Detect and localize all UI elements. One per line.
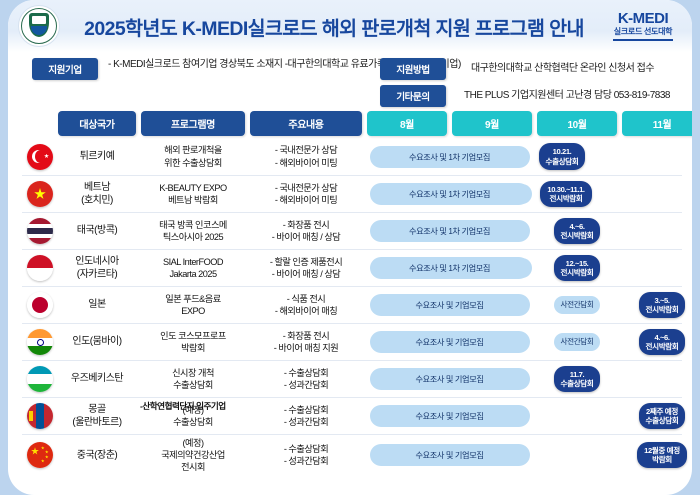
apply-method-label: 지원방법	[380, 58, 446, 80]
inquiry-row: 기타문의 THE PLUS 기업지원센터 고난경 담당 053-819-7838	[380, 85, 661, 107]
country-name: 일본	[58, 296, 136, 313]
month-cell-10: 4.~6. 전시박람회	[537, 218, 617, 244]
month-cell-10: 사전간담회	[537, 333, 617, 350]
program-content: - 식품 전시 - 해외바이어 매칭	[250, 291, 362, 319]
schedule-bar-span: 수요조사 및 기업모집	[367, 405, 532, 427]
month-cell-10: 12.~15. 전시박람회	[537, 255, 617, 281]
schedule-table: 대상국가 프로그램명 주요내용 8월 9월 10월 11월 12월 튀르키예해외…	[8, 111, 692, 475]
flag-cell	[22, 292, 58, 318]
month-cell-10: 사전간담회	[537, 296, 617, 313]
table-row: 일본일본 푸드&음료 EXPO- 식품 전시 - 해외바이어 매칭수요조사 및 …	[22, 286, 682, 323]
turkey-flag	[27, 144, 53, 170]
apply-method-row: 지원방법 대구한의대학교 산학협력단 온라인 신청서 접수	[380, 58, 661, 80]
page-title: 2025학년도 K-MEDI실크로드 해외 판로개척 지원 프로그램 안내	[60, 12, 604, 41]
schedule-badge: 10.30.~11.1. 전시박람회	[540, 181, 591, 207]
program-content: - 수출상담회 - 성과간담회	[250, 441, 362, 469]
flag-cell	[22, 181, 58, 207]
schedule-bar-span: 수요조사 및 1차 기업모집	[367, 257, 532, 279]
table-header-row: 대상국가 프로그램명 주요내용 8월 9월 10월 11월 12월	[22, 111, 682, 136]
table-body: 튀르키예해외 판로개척을 위한 수출상담회- 국내전문가 상담 - 해외바이어 …	[22, 138, 682, 475]
indonesia-flag	[27, 255, 53, 281]
country-name: 몽골 (울란바토르)	[58, 401, 136, 431]
flag-cell	[22, 366, 58, 392]
table-row: 베트남 (호치민)K-BEAUTY EXPO 베트남 박람회- 국내전문가 상담…	[22, 175, 682, 212]
column-header-country: 대상국가	[58, 111, 136, 136]
program-name: 일본 푸드&음료 EXPO	[141, 291, 245, 319]
column-header-month-10: 10월	[537, 111, 617, 136]
inquiry-label: 기타문의	[380, 85, 446, 107]
flag-cell	[22, 329, 58, 355]
table-row: 인도네시아 (자카르타)SIAL InterFOOD Jakarta 2025-…	[22, 249, 682, 286]
program-name: SIAL InterFOOD Jakarta 2025	[141, 254, 245, 282]
brand-line-2: 실크로드 선도대학	[604, 28, 682, 36]
month-cell-10: 10.21. 수출상담회	[537, 143, 617, 169]
table-row: 몽골 (울란바토르)(예정) 수출상담회- 수출상담회 - 성과간담회수요조사 …	[22, 397, 682, 434]
brand-underline	[613, 39, 673, 41]
india-flag	[27, 329, 53, 355]
country-name: 우즈베키스탄	[58, 370, 136, 387]
program-name: 태국 방콕 인코스메 틱스아시아 2025	[141, 217, 245, 245]
column-header-month-9: 9월	[452, 111, 532, 136]
schedule-badge: 4.~6. 전시박람회	[639, 329, 686, 355]
program-content: - 국내전문가 상담 - 해외바이어 미팅	[250, 142, 362, 170]
schedule-badge: 수요조사 및 기업모집	[370, 444, 530, 466]
mongolia-flag	[27, 403, 53, 429]
schedule-badge: 수요조사 및 1차 기업모집	[370, 183, 530, 205]
schedule-badge: 수요조사 및 1차 기업모집	[370, 146, 530, 168]
schedule-badge: 수요조사 및 기업모집	[370, 294, 530, 316]
schedule-badge: 수요조사 및 기업모집	[370, 331, 530, 353]
schedule-bar-span: 수요조사 및 1차 기업모집	[367, 220, 532, 242]
poster-header: 2025학년도 K-MEDI실크로드 해외 판로개척 지원 프로그램 안내 K-…	[8, 0, 692, 52]
month-cell-11: 2째주 예정 수출상담회	[622, 403, 692, 429]
month-cell-11: 3.~5. 전시박람회	[622, 292, 692, 318]
program-content: - 화장품 전시 - 바이어 매칭 / 상담	[250, 217, 362, 245]
vietnam-flag	[27, 181, 53, 207]
program-name: (예정) 국제의약건강산업 전시회	[141, 435, 245, 475]
schedule-badge: 수요조사 및 기업모집	[370, 405, 530, 427]
poster-page: 2025학년도 K-MEDI실크로드 해외 판로개척 지원 프로그램 안내 K-…	[0, 0, 700, 495]
schedule-badge: 수요조사 및 1차 기업모집	[370, 257, 530, 279]
country-name: 태국(방콕)	[58, 222, 136, 239]
info-support: 지원기업 - K-MEDI실크로드 참여기업 경상북도 소재지 -대구한의대학교…	[32, 58, 380, 107]
schedule-bar-span: 수요조사 및 1차 기업모집	[367, 146, 532, 168]
column-header-program: 프로그램명	[141, 111, 245, 136]
row-note: -산학연협력단지 입주기업	[140, 400, 226, 412]
schedule-bar-span: 수요조사 및 기업모집	[367, 444, 532, 466]
country-name: 인도(뭄바이)	[58, 333, 136, 350]
poster-card: 2025학년도 K-MEDI실크로드 해외 판로개척 지원 프로그램 안내 K-…	[8, 0, 692, 495]
program-content: - 화장품 전시 - 바이어 매칭 지원	[250, 328, 362, 356]
brand-line-1: K-MEDI	[604, 11, 682, 27]
schedule-badge: 수요조사 및 1차 기업모집	[370, 220, 530, 242]
flag-cell	[22, 442, 58, 468]
uzbekistan-flag	[27, 366, 53, 392]
table-row: 중국(장춘)(예정) 국제의약건강산업 전시회- 수출상담회 - 성과간담회수요…	[22, 434, 682, 475]
column-header-month-11: 11월	[622, 111, 692, 136]
month-cell-10: 10.30.~11.1. 전시박람회	[537, 181, 617, 207]
program-content: - 수출상담회 - 성과간담회	[250, 365, 362, 393]
month-cell-11: 12월중 예정 박람회	[622, 442, 692, 468]
flag-cell	[22, 144, 58, 170]
column-header-content: 주요내용	[250, 111, 362, 136]
kmedi-brand-logo: K-MEDI 실크로드 선도대학	[604, 11, 686, 40]
university-seal-icon	[18, 5, 60, 47]
column-header-month-8: 8월	[367, 111, 447, 136]
program-name: K-BEAUTY EXPO 베트남 박람회	[141, 180, 245, 208]
schedule-badge: 12.~15. 전시박람회	[554, 255, 601, 281]
table-row: 우즈베키스탄신시장 개척 수출상담회- 수출상담회 - 성과간담회수요조사 및 …	[22, 360, 682, 397]
program-content: - 수출상담회 - 성과간담회	[250, 402, 362, 430]
flag-cell	[22, 403, 58, 429]
table-row: 태국(방콕)태국 방콕 인코스메 틱스아시아 2025- 화장품 전시 - 바이…	[22, 212, 682, 249]
apply-method-text: 대구한의대학교 산학협력단 온라인 신청서 접수	[446, 62, 661, 76]
info-apply: 지원방법 대구한의대학교 산학협력단 온라인 신청서 접수 기타문의 THE P…	[380, 58, 678, 107]
thailand-flag	[27, 218, 53, 244]
program-content: - 할랄 인증 제품전시 - 바이어 매칭 / 상담	[250, 254, 362, 282]
program-content: - 국내전문가 상담 - 해외바이어 미팅	[250, 180, 362, 208]
schedule-bar-span: 수요조사 및 기업모집	[367, 294, 532, 316]
flag-cell	[22, 218, 58, 244]
schedule-bar-span: 수요조사 및 1차 기업모집	[367, 183, 532, 205]
schedule-badge: 2째주 예정 수출상담회	[639, 403, 686, 429]
table-row: 인도(뭄바이)인도 코스모프로프 박람회- 화장품 전시 - 바이어 매칭 지원…	[22, 323, 682, 360]
country-name: 베트남 (호치민)	[58, 179, 136, 209]
schedule-badge: 4.~6. 전시박람회	[554, 218, 601, 244]
flag-cell	[22, 255, 58, 281]
country-name: 중국(장춘)	[58, 447, 136, 464]
month-cell-11: 4.~6. 전시박람회	[622, 329, 692, 355]
program-name: 인도 코스모프로프 박람회	[141, 328, 245, 356]
schedule-bar-span: 수요조사 및 기업모집	[367, 368, 532, 390]
schedule-badge: 11.7. 수출상담회	[554, 366, 601, 392]
china-flag	[27, 442, 53, 468]
schedule-badge: 사전간담회	[554, 296, 601, 313]
table-row: 튀르키예해외 판로개척을 위한 수출상담회- 국내전문가 상담 - 해외바이어 …	[22, 138, 682, 175]
schedule-badge: 사전간담회	[554, 333, 601, 350]
country-name: 인도네시아 (자카르타)	[58, 253, 136, 283]
support-company-label: 지원기업	[32, 58, 98, 80]
info-block: 지원기업 - K-MEDI실크로드 참여기업 경상북도 소재지 -대구한의대학교…	[8, 52, 692, 111]
country-name: 튀르키예	[58, 148, 136, 165]
program-name: 신시장 개척 수출상담회	[141, 365, 245, 393]
schedule-badge: 3.~5. 전시박람회	[639, 292, 686, 318]
schedule-badge: 12월중 예정 박람회	[637, 442, 687, 468]
inquiry-text: THE PLUS 기업지원센터 고난경 담당 053-819-7838	[446, 89, 661, 103]
month-cell-10: 11.7. 수출상담회	[537, 366, 617, 392]
schedule-bar-span: 수요조사 및 기업모집	[367, 331, 532, 353]
schedule-badge: 10.21. 수출상담회	[539, 143, 586, 169]
program-name: 해외 판로개척을 위한 수출상담회	[141, 142, 245, 170]
japan-flag	[27, 292, 53, 318]
schedule-badge: 수요조사 및 기업모집	[370, 368, 530, 390]
